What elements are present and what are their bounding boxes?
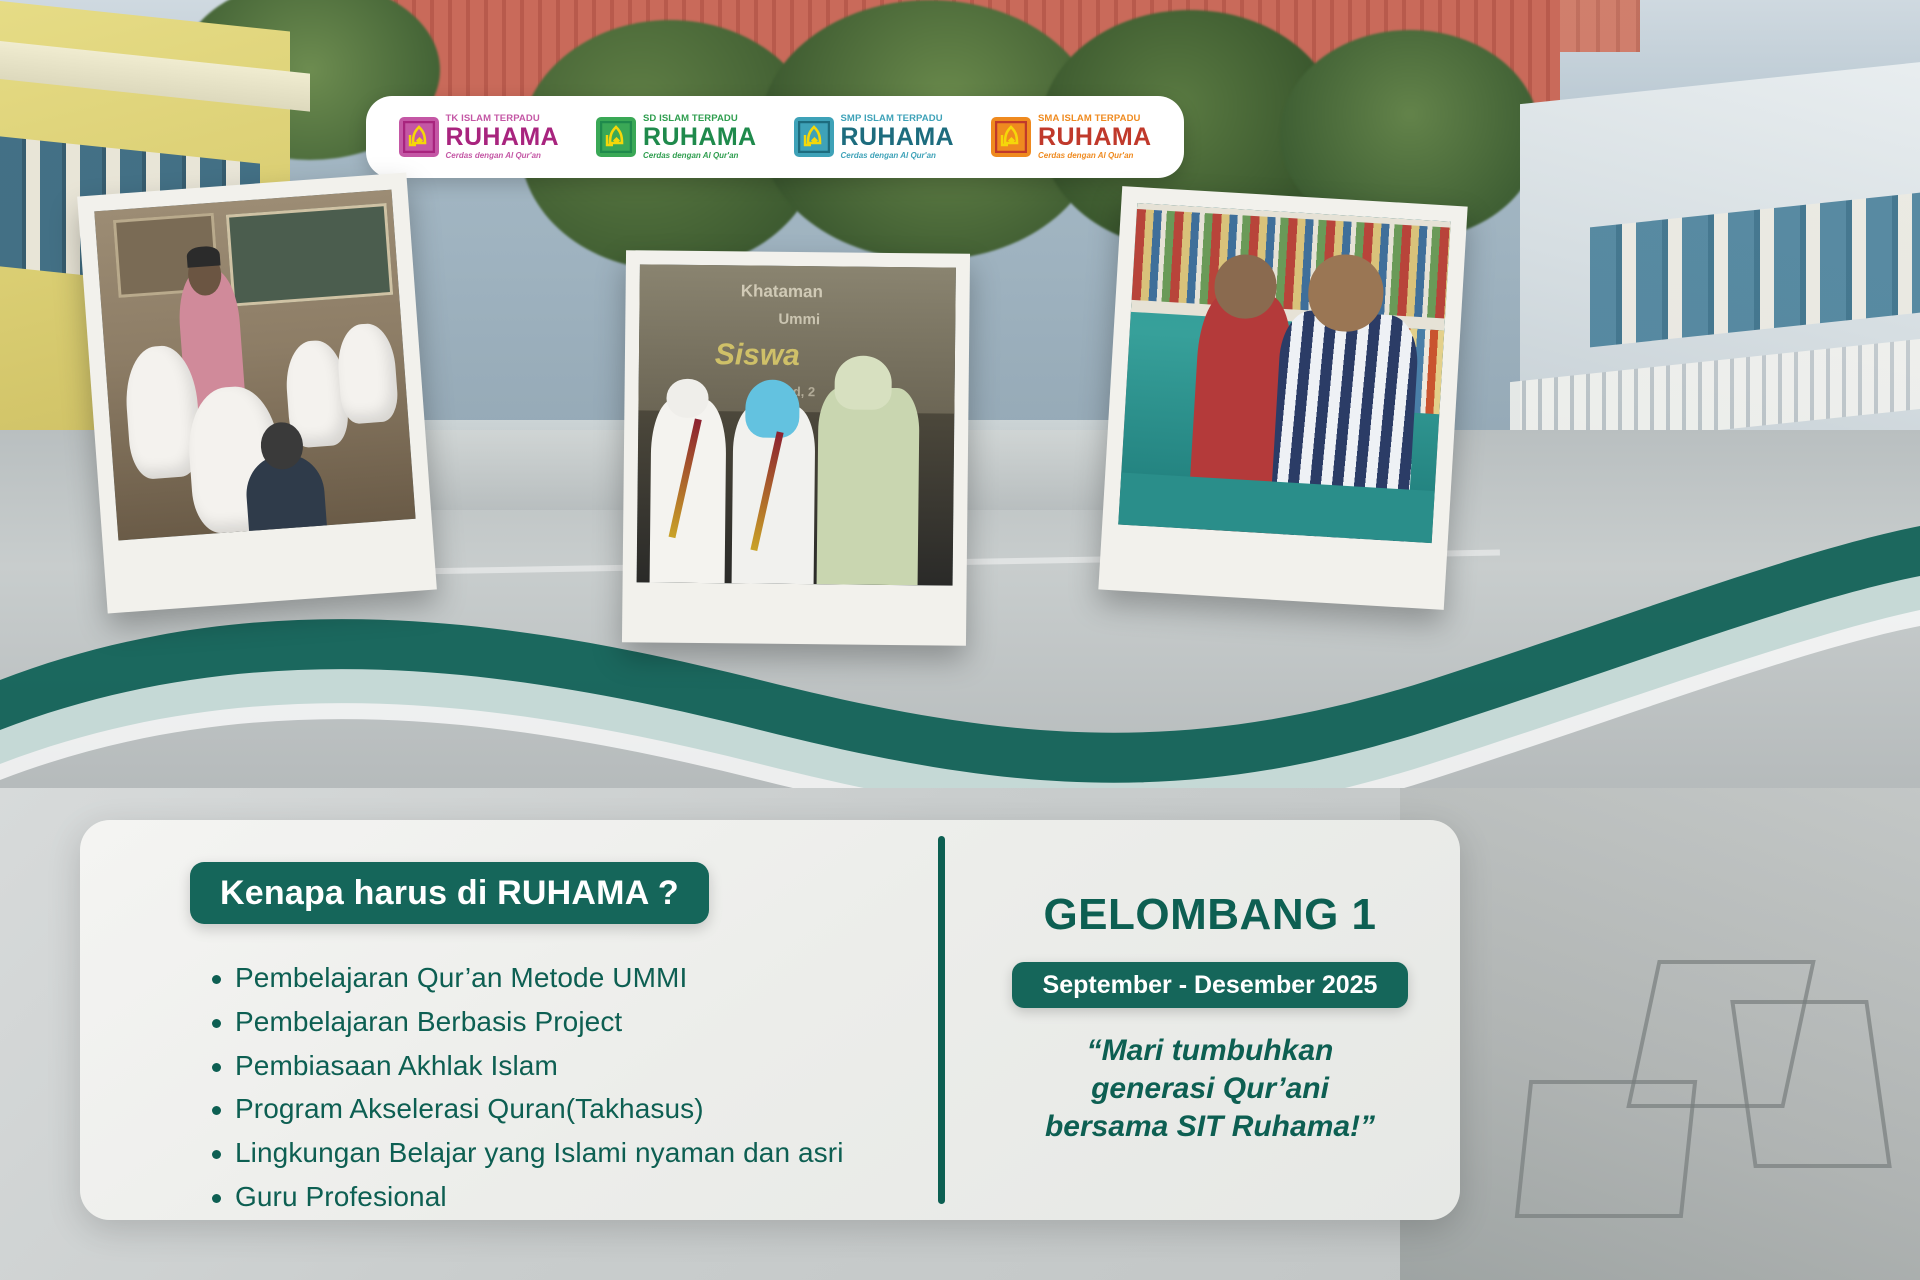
student-hijab-blue xyxy=(746,380,800,438)
list-item-label: Lingkungan Belajar yang Islami nyaman da… xyxy=(235,1135,844,1171)
logo-smp: SMP ISLAM TERPADU RUHAMA Cerdas dengan A… xyxy=(794,114,955,160)
list-item: Lingkungan Belajar yang Islami nyaman da… xyxy=(212,1135,912,1171)
logo-sma-text: SMA ISLAM TERPADU RUHAMA Cerdas dengan A… xyxy=(1038,114,1152,160)
mosque-book-icon xyxy=(399,117,439,157)
mosque-book-icon xyxy=(596,117,636,157)
left-panel-heading-pill: Kenapa harus di RUHAMA ? xyxy=(190,862,709,924)
books-row xyxy=(1132,209,1451,318)
logo-tagline: Cerdas dengan Al Qur'an xyxy=(446,152,560,160)
photo-stage-ceremony: Khataman Ummi Siswa bad, 2 xyxy=(637,264,956,585)
logo-sd: SD ISLAM TERPADU RUHAMA Cerdas dengan Al… xyxy=(596,114,757,160)
list-item: Pembelajaran Berbasis Project xyxy=(212,1004,912,1040)
quote-line-3: bersama SIT Ruhama!” xyxy=(960,1108,1460,1146)
date-range-badge: September - Desember 2025 xyxy=(1012,962,1408,1008)
mosque-book-icon xyxy=(991,117,1031,157)
teacher-cap xyxy=(187,245,221,267)
logo-tk-text: TK ISLAM TERPADU RUHAMA Cerdas dengan Al… xyxy=(446,114,560,160)
chair-outline xyxy=(1730,1000,1892,1168)
whiteboard xyxy=(226,203,393,306)
school-logo-bar: TK ISLAM TERPADU RUHAMA Cerdas dengan Al… xyxy=(366,96,1184,178)
logo-tagline: Cerdas dengan Al Qur'an xyxy=(643,152,757,160)
logo-tagline: Cerdas dengan Al Qur'an xyxy=(1038,152,1152,160)
date-range-label: September - Desember 2025 xyxy=(1043,971,1378,1000)
banner-text: Ummi xyxy=(778,310,820,327)
chair-outline xyxy=(1515,1080,1698,1218)
logo-name: RUHAMA xyxy=(841,125,955,150)
logo-sma: SMA ISLAM TERPADU RUHAMA Cerdas dengan A… xyxy=(991,114,1152,160)
bullet-dot-icon xyxy=(212,1150,221,1159)
banner-text: Siswa xyxy=(715,338,800,373)
list-item: Guru Profesional xyxy=(212,1179,912,1215)
quote-line-2: generasi Qur’ani xyxy=(960,1070,1460,1108)
photo-boys-reading xyxy=(1118,203,1451,543)
logo-tk: TK ISLAM TERPADU RUHAMA Cerdas dengan Al… xyxy=(399,114,560,160)
panel-divider xyxy=(938,836,945,1204)
poster-root: TK ISLAM TERPADU RUHAMA Cerdas dengan Al… xyxy=(0,0,1920,1280)
list-item-label: Program Akselerasi Quran(Takhasus) xyxy=(235,1091,704,1127)
banner-text: Khataman xyxy=(741,281,823,302)
list-item-label: Pembelajaran Berbasis Project xyxy=(235,1004,622,1040)
student-speaker-head xyxy=(667,379,708,418)
logo-sd-text: SD ISLAM TERPADU RUHAMA Cerdas dengan Al… xyxy=(643,114,757,160)
logo-name: RUHAMA xyxy=(1038,125,1152,150)
benefits-list: Pembelajaran Qur’an Metode UMMI Pembelaj… xyxy=(212,960,912,1223)
logo-tagline: Cerdas dengan Al Qur'an xyxy=(841,152,955,160)
teacher-green-dress xyxy=(817,387,920,585)
bullet-dot-icon xyxy=(212,1063,221,1072)
list-item-label: Pembiasaan Akhlak Islam xyxy=(235,1048,558,1084)
teacher-hijab xyxy=(834,355,891,410)
photo-card-ceremony: Khataman Ummi Siswa bad, 2 xyxy=(622,250,970,646)
mosque-book-icon xyxy=(794,117,834,157)
list-item: Pembelajaran Qur’an Metode UMMI xyxy=(212,960,912,996)
photo-classroom-students xyxy=(94,190,415,541)
motto-quote: “Mari tumbuhkan generasi Qur’ani bersama… xyxy=(960,1032,1460,1145)
list-item: Pembiasaan Akhlak Islam xyxy=(212,1048,912,1084)
logo-smp-text: SMP ISLAM TERPADU RUHAMA Cerdas dengan A… xyxy=(841,114,955,160)
list-item-label: Guru Profesional xyxy=(235,1179,447,1215)
wave-title: GELOMBANG 1 xyxy=(960,890,1460,940)
logo-name: RUHAMA xyxy=(643,125,757,150)
student-speaker xyxy=(649,398,727,583)
bullet-dot-icon xyxy=(212,975,221,984)
photo-card-classroom xyxy=(77,172,437,613)
logo-name: RUHAMA xyxy=(446,125,560,150)
list-item: Program Akselerasi Quran(Takhasus) xyxy=(212,1091,912,1127)
bullet-dot-icon xyxy=(212,1019,221,1028)
photo-card-library xyxy=(1098,186,1467,610)
quote-line-1: “Mari tumbuhkan xyxy=(960,1032,1460,1070)
list-item-label: Pembelajaran Qur’an Metode UMMI xyxy=(235,960,687,996)
bullet-dot-icon xyxy=(212,1106,221,1115)
left-panel-heading: Kenapa harus di RUHAMA ? xyxy=(220,874,679,913)
bullet-dot-icon xyxy=(212,1194,221,1203)
